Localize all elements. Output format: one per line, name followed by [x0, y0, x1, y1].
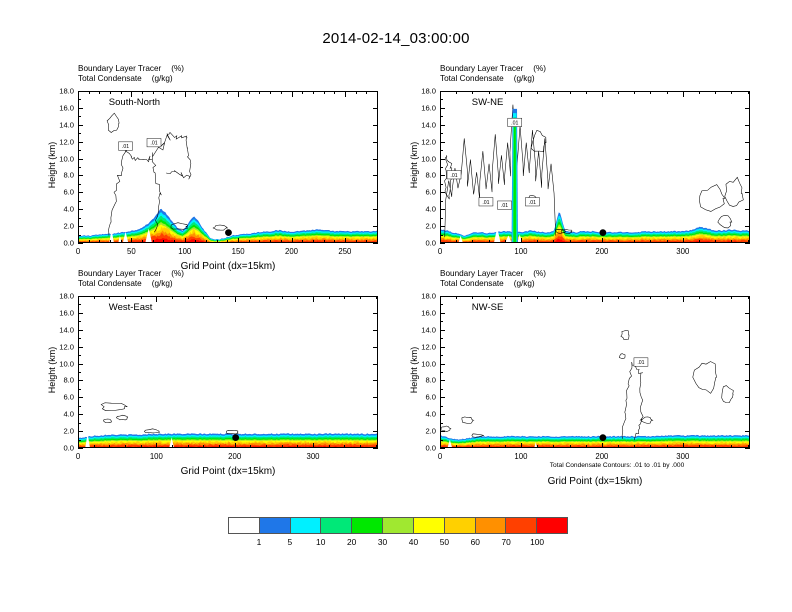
y-tick-mark — [745, 347, 750, 348]
x-tick-minor — [715, 296, 716, 299]
x-tick-mark-top — [683, 296, 684, 302]
x-tick-minor — [163, 240, 164, 243]
x-tick-minor — [281, 91, 282, 94]
x-tick-minor — [219, 445, 220, 448]
header-var2: Total Condensate — [440, 74, 504, 83]
tracer-band-6 — [79, 227, 378, 243]
x-tick-minor — [586, 445, 587, 448]
y-tick-minor — [78, 150, 81, 151]
x-tick-minor — [141, 296, 142, 299]
x-tick-minor — [131, 240, 132, 243]
x-tick-label: 0 — [438, 247, 442, 256]
y-tick-mark — [78, 380, 83, 381]
y-tick-mark — [745, 91, 750, 92]
x-tick-minor — [99, 91, 100, 94]
y-tick-label: 14.0 — [421, 325, 436, 334]
y-tick-label: 12.0 — [59, 342, 74, 351]
y-tick-mark — [78, 192, 83, 193]
x-tick-minor — [360, 445, 361, 448]
x-tick-minor — [489, 91, 490, 94]
x-tick-minor — [156, 445, 157, 448]
y-tick-label: 18.0 — [59, 87, 74, 96]
x-tick-minor — [94, 445, 95, 448]
contour-label: .01 — [634, 358, 648, 366]
x-tick-minor — [163, 91, 164, 94]
x-tick-label: 100 — [514, 452, 527, 461]
y-tick-mark — [440, 142, 445, 143]
y-tick-label: 0.0 — [63, 444, 74, 453]
y-tick-mark — [78, 431, 83, 432]
header-unit2: (g/kg) — [152, 74, 173, 83]
y-axis-title: Height (km) — [409, 330, 419, 410]
panel-label-nw-se: NW-SE — [472, 302, 504, 313]
x-tick-minor — [602, 296, 603, 299]
x-tick-minor — [650, 445, 651, 448]
x-tick-mark — [440, 238, 441, 243]
x-tick-mark-top — [440, 296, 441, 302]
tracer-band-0 — [79, 433, 378, 448]
tracer-band-2 — [79, 216, 378, 243]
y-tick-mark — [745, 296, 750, 297]
panel-header-south-north: Boundary Layer Tracer(%)Total Condensate… — [78, 64, 184, 84]
y-tick-label: 14.0 — [421, 120, 436, 129]
header-var1: Boundary Layer Tracer — [78, 64, 161, 73]
colorbar-segment-8 — [475, 518, 506, 533]
y-tick-label: 4.0 — [425, 410, 436, 419]
x-tick-minor — [302, 240, 303, 243]
header-unit2: (g/kg) — [514, 74, 535, 83]
x-axis-title: Grid Point (dx=15km) — [548, 476, 643, 487]
tracer-band-3 — [441, 222, 750, 243]
x-tick-minor — [489, 296, 490, 299]
tracer-band-4 — [79, 222, 378, 243]
x-tick-minor — [440, 91, 441, 94]
contour-label: .01 — [147, 138, 161, 146]
y-tick-mark — [373, 243, 378, 244]
y-tick-label: 16.0 — [59, 103, 74, 112]
x-tick-minor — [360, 296, 361, 299]
y-tick-mark — [373, 347, 378, 348]
x-tick-mark — [683, 443, 684, 448]
colorbar-tick-label: 60 — [471, 537, 480, 547]
tracer-gap — [534, 442, 537, 448]
y-tick-label: 12.0 — [59, 137, 74, 146]
x-tick-label: 100 — [150, 452, 163, 461]
panel-header-sw-ne: Boundary Layer Tracer(%)Total Condensate… — [440, 64, 546, 84]
x-tick-minor — [667, 240, 668, 243]
x-tick-mark — [440, 443, 441, 448]
x-tick-minor — [292, 91, 293, 94]
tracer-band-5 — [79, 225, 378, 243]
x-tick-mark — [238, 238, 239, 243]
y-tick-mark — [373, 397, 378, 398]
x-tick-mark — [313, 443, 314, 448]
tracer-band-9 — [79, 446, 378, 448]
x-tick-minor — [78, 296, 79, 299]
x-tick-minor — [553, 445, 554, 448]
colorbar-segment-0 — [229, 518, 259, 533]
y-tick-mark — [78, 209, 83, 210]
tracer-band-2 — [79, 436, 378, 448]
colorbar-tick-label: 40 — [409, 537, 418, 547]
tracer-band-1 — [441, 436, 750, 448]
y-tick-mark — [745, 159, 750, 160]
x-tick-minor — [121, 91, 122, 94]
y-tick-minor — [440, 389, 443, 390]
x-tick-mark-top — [602, 296, 603, 302]
y-tick-minor — [440, 218, 443, 219]
x-tick-minor — [570, 445, 571, 448]
y-tick-mark — [440, 209, 445, 210]
plot-content-west-east — [79, 297, 378, 448]
x-tick-minor — [324, 240, 325, 243]
condensate-contour — [226, 430, 238, 434]
x-tick-minor — [259, 240, 260, 243]
x-tick-label: 0 — [438, 452, 442, 461]
x-tick-minor — [553, 91, 554, 94]
y-tick-mark — [440, 243, 445, 244]
y-tick-mark — [745, 243, 750, 244]
x-tick-minor — [174, 91, 175, 94]
y-tick-label: 2.0 — [425, 427, 436, 436]
y-tick-label: 6.0 — [425, 188, 436, 197]
y-tick-label: 16.0 — [421, 103, 436, 112]
tracer-band-8 — [441, 236, 750, 243]
y-tick-label: 18.0 — [421, 87, 436, 96]
x-tick-mark-top — [440, 91, 441, 97]
y-tick-minor — [78, 440, 81, 441]
x-tick-minor — [125, 296, 126, 299]
x-tick-minor — [366, 91, 367, 94]
convective-tower-band — [512, 113, 517, 243]
x-tick-minor — [715, 445, 716, 448]
x-tick-minor — [634, 445, 635, 448]
condensate-contour — [561, 230, 572, 234]
x-tick-label: 200 — [595, 247, 608, 256]
station-marker — [599, 434, 606, 441]
y-tick-label: 8.0 — [63, 376, 74, 385]
x-tick-minor — [553, 240, 554, 243]
x-tick-minor — [683, 296, 684, 299]
x-tick-minor — [489, 445, 490, 448]
y-tick-mark — [440, 296, 445, 297]
condensate-contour — [144, 429, 159, 433]
y-tick-mark — [745, 142, 750, 143]
x-tick-minor — [238, 240, 239, 243]
x-tick-minor — [586, 296, 587, 299]
x-tick-mark — [185, 238, 186, 243]
x-tick-minor — [521, 91, 522, 94]
x-tick-minor — [748, 240, 749, 243]
x-tick-minor — [570, 296, 571, 299]
y-tick-minor — [78, 218, 81, 219]
condensate-contour — [445, 155, 453, 199]
y-tick-minor — [78, 99, 81, 100]
panel-header-nw-se: Boundary Layer Tracer(%)Total Condensate… — [440, 269, 546, 289]
y-tick-mark — [78, 414, 83, 415]
y-tick-label: 0.0 — [63, 239, 74, 248]
y-tick-label: 6.0 — [63, 188, 74, 197]
colorbar — [228, 517, 568, 534]
x-tick-minor — [667, 91, 668, 94]
tracer-band-5 — [441, 441, 750, 448]
x-tick-mark-top — [238, 91, 239, 97]
contour-label: .01 — [508, 118, 522, 126]
tracer-gap — [517, 234, 523, 243]
header-var2: Total Condensate — [78, 74, 142, 83]
x-tick-minor — [206, 91, 207, 94]
x-tick-minor — [78, 445, 79, 448]
x-tick-minor — [172, 445, 173, 448]
x-tick-minor — [227, 91, 228, 94]
x-tick-minor — [174, 240, 175, 243]
colorbar-tick-label: 10 — [316, 537, 325, 547]
y-tick-minor — [78, 133, 81, 134]
tracer-band-7 — [79, 230, 378, 243]
y-tick-label: 10.0 — [421, 154, 436, 163]
colorbar-segment-6 — [413, 518, 444, 533]
x-tick-minor — [302, 91, 303, 94]
tracer-gap — [447, 440, 452, 448]
y-tick-minor — [78, 338, 81, 339]
x-tick-label: 300 — [676, 247, 689, 256]
y-tick-mark — [745, 108, 750, 109]
x-tick-minor — [356, 240, 357, 243]
x-tick-mark — [602, 238, 603, 243]
y-tick-minor — [440, 99, 443, 100]
x-tick-mark — [292, 238, 293, 243]
x-tick-mark — [156, 443, 157, 448]
x-tick-minor — [329, 296, 330, 299]
colorbar-segment-2 — [290, 518, 321, 533]
y-tick-label: 2.0 — [425, 222, 436, 231]
x-tick-label: 200 — [285, 247, 298, 256]
condensate-contour — [619, 354, 625, 359]
tracer-band-8 — [79, 233, 378, 243]
condensate-contour — [641, 417, 652, 424]
y-tick-mark — [440, 330, 445, 331]
x-tick-minor — [489, 240, 490, 243]
x-tick-minor — [99, 240, 100, 243]
x-tick-minor — [537, 91, 538, 94]
x-tick-minor — [456, 296, 457, 299]
x-tick-minor — [618, 240, 619, 243]
y-tick-label: 2.0 — [63, 427, 74, 436]
condensate-contour — [462, 417, 474, 424]
y-tick-minor — [78, 321, 81, 322]
tracer-gap — [169, 437, 174, 448]
y-tick-mark — [440, 397, 445, 398]
x-tick-minor — [650, 91, 651, 94]
tracer-gap — [123, 232, 129, 243]
x-tick-minor — [570, 240, 571, 243]
y-tick-minor — [440, 184, 443, 185]
y-tick-mark — [78, 159, 83, 160]
x-tick-mark — [131, 238, 132, 243]
panel-label-sw-ne: SW-NE — [472, 97, 504, 108]
y-tick-label: 14.0 — [59, 325, 74, 334]
svg-text:.01: .01 — [637, 360, 644, 366]
colorbar-segment-1 — [259, 518, 290, 533]
y-tick-minor — [78, 355, 81, 356]
y-tick-mark — [440, 159, 445, 160]
x-tick-minor — [125, 445, 126, 448]
y-tick-mark — [78, 91, 83, 92]
x-tick-label: 0 — [76, 452, 80, 461]
x-tick-minor — [142, 91, 143, 94]
tracer-gap — [458, 236, 463, 243]
tracer-gap — [505, 236, 513, 243]
condensate-contour — [722, 386, 734, 403]
figure-title: 2014-02-14_03:00:00 — [0, 30, 792, 47]
x-tick-minor — [650, 240, 651, 243]
y-tick-mark — [745, 397, 750, 398]
x-tick-mark-top — [345, 91, 346, 97]
x-tick-mark-top — [602, 91, 603, 97]
x-tick-minor — [715, 240, 716, 243]
y-tick-mark — [78, 448, 83, 449]
x-tick-minor — [356, 91, 357, 94]
condensate-contour — [555, 229, 566, 233]
contour-label: .01 — [498, 201, 512, 209]
condensate-contour — [116, 415, 127, 420]
colorbar-tick-label: 100 — [530, 537, 544, 547]
condensate-contour — [693, 362, 717, 394]
condensate-contour — [531, 130, 546, 151]
y-tick-mark — [78, 226, 83, 227]
x-tick-minor — [78, 240, 79, 243]
x-tick-minor — [456, 445, 457, 448]
y-tick-label: 4.0 — [425, 205, 436, 214]
x-tick-minor — [731, 91, 732, 94]
y-tick-minor — [440, 150, 443, 151]
x-tick-mark — [683, 238, 684, 243]
tracer-band-1 — [441, 216, 750, 243]
contour-label: .01 — [525, 198, 539, 206]
tracer-band-3 — [79, 438, 378, 448]
y-tick-mark — [440, 431, 445, 432]
x-tick-minor — [219, 296, 220, 299]
colorbar-segment-4 — [351, 518, 382, 533]
x-axis-title: Grid Point (dx=15km) — [181, 466, 276, 477]
x-tick-minor — [683, 240, 684, 243]
y-tick-label: 18.0 — [59, 292, 74, 301]
x-tick-minor — [377, 91, 378, 94]
x-tick-minor — [141, 445, 142, 448]
x-tick-mark — [345, 238, 346, 243]
y-tick-mark — [745, 431, 750, 432]
x-tick-minor — [172, 296, 173, 299]
tracer-gap — [494, 228, 501, 243]
tracer-band-7 — [441, 231, 750, 243]
y-tick-mark — [373, 175, 378, 176]
x-tick-minor — [153, 240, 154, 243]
x-tick-minor — [472, 296, 473, 299]
x-tick-minor — [618, 91, 619, 94]
y-tick-minor — [440, 440, 443, 441]
x-tick-minor — [748, 445, 749, 448]
header-unit1: (%) — [171, 269, 184, 278]
panel-label-south-north: South-North — [109, 97, 160, 108]
tracer-band-0 — [79, 209, 378, 243]
y-tick-label: 0.0 — [425, 444, 436, 453]
panel-header-west-east: Boundary Layer Tracer(%)Total Condensate… — [78, 269, 184, 289]
x-tick-minor — [699, 296, 700, 299]
y-tick-minor — [440, 235, 443, 236]
x-tick-minor — [683, 91, 684, 94]
colorbar-tick-label: 1 — [257, 537, 262, 547]
y-tick-minor — [440, 321, 443, 322]
y-tick-label: 0.0 — [425, 239, 436, 248]
tracer-band-8 — [441, 445, 750, 448]
x-tick-minor — [650, 296, 651, 299]
x-tick-minor — [537, 240, 538, 243]
y-tick-mark — [78, 397, 83, 398]
x-tick-minor — [195, 240, 196, 243]
x-tick-minor — [266, 445, 267, 448]
tracer-band-9 — [441, 446, 750, 448]
y-tick-mark — [78, 313, 83, 314]
condensate-contour — [104, 419, 112, 423]
y-tick-mark — [440, 380, 445, 381]
y-tick-mark — [745, 380, 750, 381]
x-tick-minor — [89, 240, 90, 243]
y-tick-label: 8.0 — [425, 376, 436, 385]
convective-tower-band — [513, 117, 517, 243]
svg-text:.01: .01 — [511, 120, 518, 126]
tracer-band-7 — [79, 442, 378, 448]
condensate-contour — [528, 196, 537, 205]
x-tick-mark — [235, 443, 236, 448]
x-tick-mark-top — [131, 91, 132, 97]
x-tick-minor — [227, 240, 228, 243]
x-tick-minor — [472, 240, 473, 243]
header-var2: Total Condensate — [78, 279, 142, 288]
plot-content-sw-ne: .01.01.01.01.01 — [441, 92, 750, 243]
y-tick-minor — [440, 167, 443, 168]
x-tick-minor — [270, 91, 271, 94]
y-tick-minor — [440, 355, 443, 356]
x-tick-minor — [324, 91, 325, 94]
x-tick-minor — [235, 296, 236, 299]
colorbar-segment-9 — [505, 518, 536, 533]
x-tick-minor — [344, 445, 345, 448]
x-tick-mark-top — [521, 296, 522, 302]
y-tick-mark — [745, 414, 750, 415]
x-tick-minor — [281, 240, 282, 243]
x-tick-minor — [634, 91, 635, 94]
x-tick-minor — [505, 240, 506, 243]
tracer-band-0 — [441, 212, 750, 243]
y-tick-mark — [78, 243, 83, 244]
x-tick-minor — [505, 296, 506, 299]
x-tick-minor — [206, 240, 207, 243]
x-tick-minor — [282, 445, 283, 448]
tracer-gap — [118, 236, 122, 243]
y-tick-label: 10.0 — [59, 359, 74, 368]
tracer-gap — [85, 434, 90, 448]
x-tick-minor — [699, 240, 700, 243]
condensate-contour — [622, 362, 643, 440]
x-tick-minor — [472, 445, 473, 448]
y-tick-mark — [373, 192, 378, 193]
y-tick-label: 6.0 — [63, 393, 74, 402]
x-tick-minor — [456, 240, 457, 243]
x-tick-minor — [250, 296, 251, 299]
header-var1: Boundary Layer Tracer — [440, 269, 523, 278]
header-unit2: (g/kg) — [152, 279, 173, 288]
y-tick-minor — [440, 201, 443, 202]
